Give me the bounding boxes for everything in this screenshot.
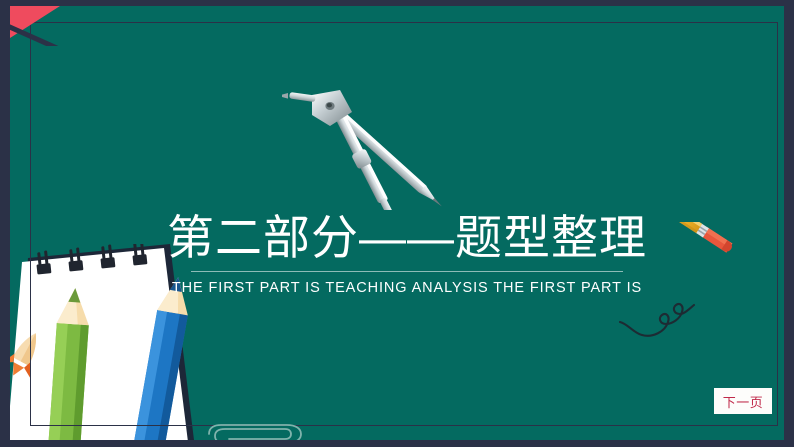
rocket-icon — [10, 328, 40, 386]
title-divider — [191, 271, 623, 272]
title-block: 第二部分——题型整理 THE FIRST PART IS TEACHING AN… — [10, 209, 784, 297]
presentation-slide: 第二部分——题型整理 THE FIRST PART IS TEACHING AN… — [0, 0, 794, 447]
next-page-button-label: 下一页 — [723, 392, 764, 411]
page-subtitle: THE FIRST PART IS TEACHING ANALYSIS THE … — [10, 279, 784, 297]
page-title: 第二部分——题型整理 — [10, 209, 784, 267]
chalkboard-background: 第二部分——题型整理 THE FIRST PART IS TEACHING AN… — [10, 6, 784, 440]
paperclip-icon — [195, 420, 315, 440]
next-page-button[interactable]: 下一页 — [714, 388, 772, 414]
corner-triangle-decoration — [10, 6, 60, 38]
compass-icon — [282, 82, 502, 210]
